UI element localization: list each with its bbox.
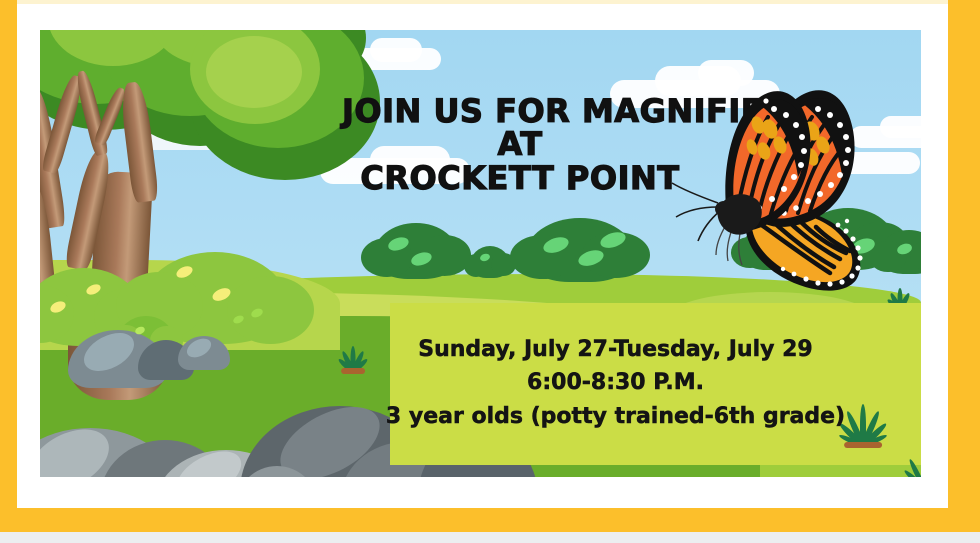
details-ages: 3 year olds (potty trained-6th grade): [350, 400, 881, 433]
details-time: 6:00-8:30 P.M.: [350, 366, 881, 399]
bush-icon: [470, 246, 510, 278]
flower-dot-icon: [211, 285, 233, 303]
flower-dot-icon: [250, 307, 264, 319]
flower-dot-icon: [85, 282, 102, 296]
frame-left-border: [0, 0, 17, 532]
frame-bottom-border: [0, 508, 980, 532]
flyer-details: Sunday, July 27-Tuesday, July 29 6:00-8:…: [350, 333, 881, 433]
flower-dot-icon: [175, 264, 195, 280]
flyer-page: JOIN US FOR MAGNIFIED AT CROCKETT POINT …: [0, 0, 980, 543]
monarch-butterfly-icon: [660, 75, 890, 295]
frame-right-border: [948, 0, 980, 532]
cloud-icon: [370, 38, 422, 62]
flower-dot-icon: [232, 314, 245, 325]
page-background-strip: [0, 532, 980, 543]
details-dates: Sunday, July 27-Tuesday, July 29: [350, 333, 881, 366]
tree-foliage: [206, 36, 302, 108]
grass-tuft-icon: [902, 448, 921, 477]
flower-dot-icon: [49, 299, 68, 315]
